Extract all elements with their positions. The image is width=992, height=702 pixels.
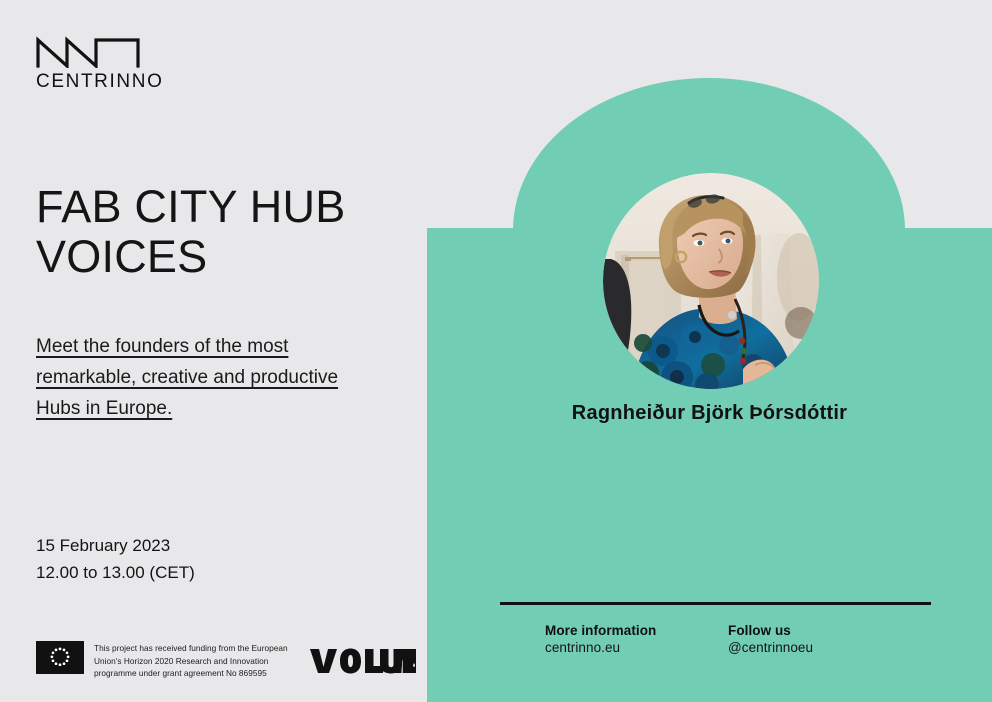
website-link[interactable]: centrinno.eu: [545, 640, 728, 655]
avatar: [603, 173, 819, 389]
page-title: FAB CITY HUB VOICES: [36, 182, 345, 283]
volumes-logo-icon: [310, 647, 416, 675]
footer-divider: [500, 602, 931, 605]
poster-canvas: CENTRINNO FAB CITY HUB VOICES Meet the f…: [0, 0, 992, 702]
speaker-portrait-photo: [603, 173, 819, 389]
more-information-group: More information centrinno.eu: [545, 623, 728, 655]
volumes-logo[interactable]: [310, 647, 416, 675]
more-information-label: More information: [545, 623, 728, 638]
follow-us-group: Follow us @centrinnoeu: [728, 623, 813, 655]
footer-info: More information centrinno.eu Follow us …: [545, 623, 813, 655]
eu-funding-text: This project has received funding from t…: [94, 641, 288, 680]
centrinno-logo[interactable]: CENTRINNO: [36, 30, 144, 93]
subtitle-underlined: Meet the founders of the most remarkable…: [36, 336, 338, 419]
subtitle-text: Meet the founders of the most remarkable…: [36, 332, 376, 424]
centrinno-wordmark: CENTRINNO: [36, 71, 144, 93]
sawtooth-roof-icon: [36, 30, 140, 68]
social-handle-link[interactable]: @centrinnoeu: [728, 640, 813, 655]
eu-funding-block: This project has received funding from t…: [36, 641, 288, 680]
follow-us-label: Follow us: [728, 623, 813, 638]
event-datetime: 15 February 2023 12.00 to 13.00 (CET): [36, 532, 195, 586]
european-union-flag-icon: [36, 641, 84, 674]
speaker-name: Ragnheiður Björk Þórsdóttir: [427, 402, 992, 425]
